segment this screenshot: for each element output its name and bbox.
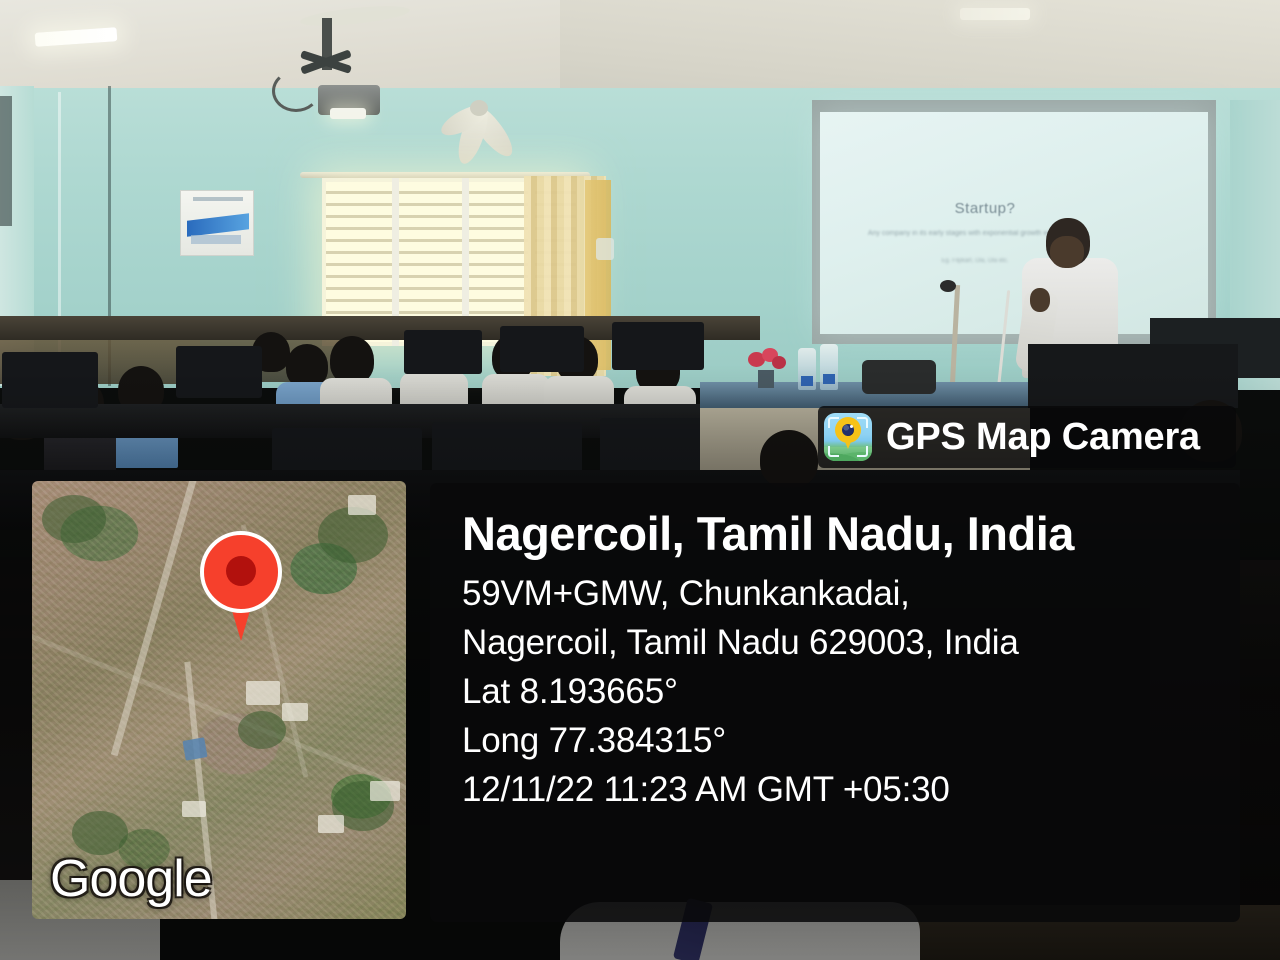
map-vegetation [42,495,106,543]
logo-viewfinder-bracket [828,417,839,428]
water-bottle [798,348,816,390]
computer-monitor [612,322,704,370]
computer-monitor [500,326,584,372]
wall-fan [440,98,518,180]
location-info-panel: Nagercoil, Tamil Nadu, India 59VM+GMW, C… [430,483,1240,922]
flower-vase [758,370,774,388]
computer-monitor [2,352,98,408]
map-pin-center-dot [226,556,256,586]
presenter-face [1050,236,1084,268]
flower [772,356,786,369]
google-watermark: Google [50,853,212,905]
computer-monitor [432,422,582,476]
map-building [370,781,400,801]
location-title: Nagercoil, Tamil Nadu, India [462,509,1240,559]
wall-dark-patch [0,96,12,226]
logo-viewfinder-bracket [857,417,868,428]
gps-map-camera-header: GPS Map Camera [818,406,1236,468]
logo-viewfinder-bracket [828,446,839,457]
map-vegetation [318,507,388,563]
map-thumbnail[interactable]: Google [32,481,406,919]
student-head [760,430,818,488]
map-building-blue-roof [182,737,207,761]
projector-cable [272,70,320,112]
water-bottle [820,344,838,390]
bottle-cap [801,376,813,386]
computer-monitor [862,360,936,394]
microphone-head [940,280,956,292]
map-building [348,495,376,515]
gps-map-camera-logo-icon [824,413,872,461]
timestamp-value: 12/11/22 11:23 AM GMT +05:30 [462,765,1240,814]
slide-title: Startup? [820,200,1150,217]
map-building [282,703,308,721]
bottle-cap [823,374,835,384]
map-building [182,801,206,817]
map-vegetation [238,711,286,749]
poster-graphic [187,213,249,237]
ceiling-tube-light-secondary [960,8,1030,20]
projection-screen [820,112,1208,334]
logo-viewfinder-bracket [857,446,868,457]
computer-monitor [404,330,482,374]
map-building [318,815,344,833]
logo-lens-glint [850,425,853,428]
gps-map-camera-screenshot: Startup? Any company in its early stages… [0,0,1280,960]
poster-graphic-secondary [191,235,241,244]
longitude-value: Long 77.384315° [462,716,1240,765]
map-pin-icon [200,531,282,643]
address-line-1: 59VM+GMW, Chunkankadai, [462,569,1240,618]
latitude-value: Lat 8.193665° [462,667,1240,716]
student-head [330,336,374,384]
app-name-label: GPS Map Camera [886,418,1200,456]
wall-switch [596,238,614,260]
poster-text-bar [193,197,243,201]
fan-hub [470,100,488,116]
presenter-hand [1030,288,1050,312]
computer-monitor [176,346,262,398]
computer-monitor [1028,344,1238,408]
address-line-2: Nagercoil, Tamil Nadu 629003, India [462,618,1240,667]
wall-poster [180,190,254,256]
projector-lens [330,108,366,119]
map-vegetation [72,811,128,855]
map-building [246,681,280,705]
